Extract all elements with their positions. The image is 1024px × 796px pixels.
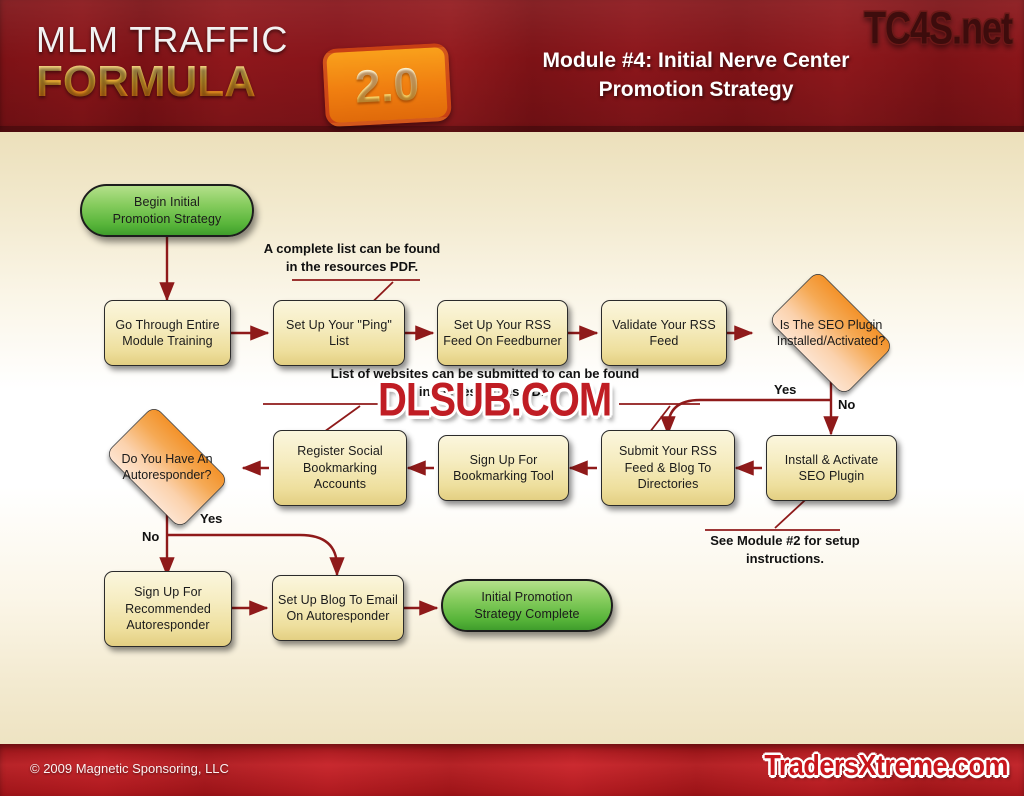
node-ping-list[interactable]: Set Up Your "Ping" List bbox=[273, 300, 405, 366]
node-complete-line2: Strategy Complete bbox=[474, 606, 579, 623]
node-start-line2: Promotion Strategy bbox=[113, 211, 222, 228]
node-ping-list-line2: List bbox=[286, 333, 392, 350]
annotation-seo-line2: instructions. bbox=[690, 550, 880, 568]
node-validate-rss-line1: Validate Your RSS bbox=[612, 317, 716, 334]
node-validate-rss-line2: Feed bbox=[612, 333, 716, 350]
annotation-seo-line1: See Module #2 for setup bbox=[690, 532, 880, 550]
page-footer: © 2009 Magnetic Sponsoring, LLC TradersX… bbox=[0, 744, 1024, 796]
page-title-line2: Promotion Strategy bbox=[416, 76, 976, 105]
node-signup-auto-line1: Sign Up For bbox=[125, 584, 211, 601]
node-feedburner-line2: Feed On Feedburner bbox=[443, 333, 562, 350]
node-install-seo-plugin[interactable]: Install & Activate SEO Plugin bbox=[766, 435, 897, 501]
page-header: MLM TRAFFIC FORMULA 2.0 Module #4: Initi… bbox=[0, 0, 1024, 132]
edge-label-auto-no: No bbox=[142, 529, 159, 544]
node-module-training-line1: Go Through Entire bbox=[115, 317, 219, 334]
node-blog-email-line2: On Autoresponder bbox=[278, 608, 398, 625]
node-bm-tool-line2: Bookmarking Tool bbox=[453, 468, 554, 485]
node-ping-list-line1: Set Up Your "Ping" bbox=[286, 317, 392, 334]
node-register-sb-line2: Bookmarking bbox=[297, 460, 383, 477]
seo-decision-label: Is The SEO Plugin Installed/Activated? bbox=[755, 283, 907, 383]
node-install-seo-line2: SEO Plugin bbox=[785, 468, 879, 485]
node-autoresponder-decision[interactable]: Do You Have An Autoresponder? bbox=[92, 418, 242, 516]
node-register-sb-line1: Register Social bbox=[297, 443, 383, 460]
node-auto-decision-line1: Do You Have An bbox=[121, 451, 212, 468]
node-submit-rss-line1: Submit Your RSS bbox=[619, 443, 717, 460]
node-install-seo-line1: Install & Activate bbox=[785, 452, 879, 469]
node-validate-rss[interactable]: Validate Your RSS Feed bbox=[601, 300, 727, 366]
node-signup-auto-line2: Recommended bbox=[125, 601, 211, 618]
node-bm-tool-line1: Sign Up For bbox=[453, 452, 554, 469]
node-module-training[interactable]: Go Through Entire Module Training bbox=[104, 300, 231, 366]
node-seo-plugin-decision[interactable]: Is The SEO Plugin Installed/Activated? bbox=[755, 283, 907, 383]
node-submit-rss-directories[interactable]: Submit Your RSS Feed & Blog To Directori… bbox=[601, 430, 735, 506]
node-signup-auto-line3: Autoresponder bbox=[125, 617, 211, 634]
node-start[interactable]: Begin Initial Promotion Strategy bbox=[80, 184, 254, 237]
version-badge-label: 2.0 bbox=[354, 60, 420, 109]
page-title: Module #4: Initial Nerve Center Promotio… bbox=[416, 47, 976, 105]
flowchart-canvas: Begin Initial Promotion Strategy Go Thro… bbox=[0, 132, 1024, 744]
node-signup-bookmarking-tool[interactable]: Sign Up For Bookmarking Tool bbox=[438, 435, 569, 501]
node-submit-rss-line2: Feed & Blog To bbox=[619, 460, 717, 477]
annotation-seo-module: See Module #2 for setup instructions. bbox=[690, 532, 880, 568]
autoresponder-decision-label: Do You Have An Autoresponder? bbox=[92, 418, 242, 516]
edge-label-seo-no: No bbox=[838, 397, 855, 412]
node-seo-decision-line2: Installed/Activated? bbox=[777, 333, 885, 350]
node-feedburner-line1: Set Up Your RSS bbox=[443, 317, 562, 334]
edge-label-seo-yes: Yes bbox=[774, 382, 796, 397]
node-complete[interactable]: Initial Promotion Strategy Complete bbox=[441, 579, 613, 632]
tradersxtreme-logo: TradersXtreme.com bbox=[764, 750, 1008, 783]
brand-logo: MLM TRAFFIC FORMULA 2.0 bbox=[36, 22, 436, 118]
dlsub-watermark: DLSUB.COM bbox=[378, 374, 611, 427]
node-blog-to-email[interactable]: Set Up Blog To Email On Autoresponder bbox=[272, 575, 404, 641]
node-signup-recommended-autoresponder[interactable]: Sign Up For Recommended Autoresponder bbox=[104, 571, 232, 647]
annotation-ping-list: A complete list can be found in the reso… bbox=[252, 240, 452, 276]
node-blog-email-line1: Set Up Blog To Email bbox=[278, 592, 398, 609]
node-submit-rss-line3: Directories bbox=[619, 476, 717, 493]
node-module-training-line2: Module Training bbox=[115, 333, 219, 350]
copyright-text: © 2009 Magnetic Sponsoring, LLC bbox=[30, 761, 229, 776]
annotation-ping-line2: in the resources PDF. bbox=[252, 258, 452, 276]
node-seo-decision-line1: Is The SEO Plugin bbox=[777, 317, 885, 334]
node-complete-line1: Initial Promotion bbox=[474, 589, 579, 606]
slide-page: MLM TRAFFIC FORMULA 2.0 Module #4: Initi… bbox=[0, 0, 1024, 796]
node-feedburner[interactable]: Set Up Your RSS Feed On Feedburner bbox=[437, 300, 568, 366]
node-auto-decision-line2: Autoresponder? bbox=[121, 467, 212, 484]
node-start-line1: Begin Initial bbox=[113, 194, 222, 211]
annotation-ping-line1: A complete list can be found bbox=[252, 240, 452, 258]
node-register-sb-line3: Accounts bbox=[297, 476, 383, 493]
tc4s-watermark: TC4S.net bbox=[864, 2, 1012, 55]
node-register-social-bookmarking[interactable]: Register Social Bookmarking Accounts bbox=[273, 430, 407, 506]
